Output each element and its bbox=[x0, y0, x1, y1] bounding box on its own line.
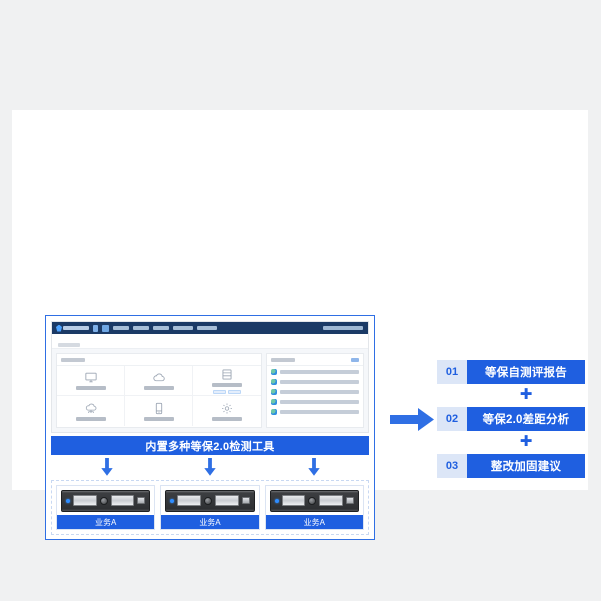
server-rack-icon bbox=[165, 490, 254, 512]
tool-badge-icon bbox=[271, 379, 277, 385]
tool-badge-icon bbox=[271, 389, 277, 395]
output-row[interactable]: 03 整改加固建议 bbox=[437, 454, 585, 478]
nav-menu-item-5[interactable] bbox=[197, 326, 217, 330]
outputs-stack: 01 等保自测评报告 ✚ 02 等保2.0差距分析 ✚ 03 整改加固建议 bbox=[437, 360, 585, 478]
recent-tools-header bbox=[267, 354, 363, 366]
breadcrumb-path bbox=[58, 343, 80, 347]
output-label: 整改加固建议 bbox=[467, 454, 585, 478]
output-row[interactable]: 01 等保自测评报告 bbox=[437, 360, 585, 384]
arrow-down-icon bbox=[306, 458, 322, 477]
down-arrow-row bbox=[51, 458, 369, 478]
list-item-label bbox=[280, 390, 359, 394]
plus-icon: ✚ bbox=[437, 384, 585, 407]
business-group: 业务A 业务A 业务A bbox=[51, 480, 369, 535]
list-item-label bbox=[280, 380, 359, 384]
app-screenshot-mock bbox=[51, 321, 369, 433]
list-item[interactable] bbox=[271, 369, 359, 375]
recent-tools-list bbox=[267, 366, 363, 418]
list-item-label bbox=[280, 410, 359, 414]
plus-icon: ✚ bbox=[437, 431, 585, 454]
tool-tag bbox=[228, 390, 241, 394]
nav-account-label[interactable] bbox=[323, 326, 363, 330]
tool-tile-tags bbox=[213, 390, 241, 394]
output-number: 01 bbox=[437, 360, 467, 384]
tool-tile-label bbox=[212, 383, 242, 387]
business-device bbox=[161, 486, 258, 515]
business-device bbox=[57, 486, 154, 515]
arrow-down-icon bbox=[99, 458, 115, 477]
database-stack-icon bbox=[220, 368, 234, 381]
server-rack-icon bbox=[270, 490, 359, 512]
tools-card bbox=[56, 353, 262, 428]
tool-tile[interactable] bbox=[193, 396, 261, 426]
output-number: 03 bbox=[437, 454, 467, 478]
cloud-network-icon bbox=[84, 402, 98, 415]
tool-tile[interactable] bbox=[125, 366, 193, 396]
tool-tile-label bbox=[76, 417, 106, 421]
tools-card-title bbox=[61, 358, 85, 362]
recent-tools-title bbox=[271, 358, 295, 362]
white-canvas: 内置多种等保2.0检测工具 bbox=[12, 110, 588, 490]
business-item[interactable]: 业务A bbox=[265, 485, 364, 530]
more-link[interactable] bbox=[351, 358, 359, 362]
banner-tools: 内置多种等保2.0检测工具 bbox=[51, 436, 369, 455]
tool-tile[interactable] bbox=[125, 396, 193, 426]
nav-menu-item-2[interactable] bbox=[133, 326, 149, 330]
tool-badge-icon bbox=[271, 409, 277, 415]
app-navbar bbox=[52, 322, 368, 334]
tool-tile-label bbox=[212, 417, 242, 421]
output-number: 02 bbox=[437, 407, 467, 431]
tool-tile-label bbox=[76, 386, 106, 390]
output-label: 等保2.0差距分析 bbox=[467, 407, 585, 431]
tool-tile-grid bbox=[57, 366, 261, 426]
mobile-device-icon bbox=[152, 402, 166, 415]
server-rack-icon bbox=[61, 490, 150, 512]
tools-card-header bbox=[57, 354, 261, 366]
list-item[interactable] bbox=[271, 389, 359, 395]
breadcrumb bbox=[52, 334, 368, 349]
list-item[interactable] bbox=[271, 409, 359, 415]
tool-tile-label bbox=[144, 386, 174, 390]
page-root: 内置多种等保2.0检测工具 bbox=[0, 0, 601, 601]
output-row[interactable]: 02 等保2.0差距分析 bbox=[437, 407, 585, 431]
tool-tile-label bbox=[144, 417, 174, 421]
nav-bars-icon bbox=[102, 325, 109, 332]
list-item-label bbox=[280, 370, 359, 374]
tool-tile[interactable] bbox=[193, 366, 261, 396]
business-caption: 业务A bbox=[57, 515, 154, 529]
shield-logo-icon bbox=[56, 325, 89, 332]
business-item[interactable]: 业务A bbox=[56, 485, 155, 530]
app-content bbox=[52, 349, 368, 432]
tool-tile[interactable] bbox=[57, 366, 125, 396]
arrow-right-icon bbox=[390, 407, 435, 432]
output-label: 等保自测评报告 bbox=[467, 360, 585, 384]
list-item[interactable] bbox=[271, 379, 359, 385]
nav-menu-item-1[interactable] bbox=[113, 326, 129, 330]
cloud-icon bbox=[152, 371, 166, 384]
nav-chart-icon bbox=[93, 325, 98, 332]
business-item[interactable]: 业务A bbox=[160, 485, 259, 530]
tool-tag bbox=[213, 390, 226, 394]
gear-icon bbox=[220, 402, 234, 415]
monitor-icon bbox=[84, 371, 98, 384]
arrow-down-icon bbox=[202, 458, 218, 477]
list-item[interactable] bbox=[271, 399, 359, 405]
tool-tile[interactable] bbox=[57, 396, 125, 426]
tool-badge-icon bbox=[271, 369, 277, 375]
nav-brand-label bbox=[63, 326, 89, 330]
tool-badge-icon bbox=[271, 399, 277, 405]
nav-menu-item-3[interactable] bbox=[153, 326, 169, 330]
business-caption: 业务A bbox=[161, 515, 258, 529]
business-caption: 业务A bbox=[266, 515, 363, 529]
list-item-label bbox=[280, 400, 359, 404]
recent-tools-card bbox=[266, 353, 364, 428]
left-diagram-container: 内置多种等保2.0检测工具 bbox=[45, 315, 375, 540]
nav-menu-item-4[interactable] bbox=[173, 326, 193, 330]
business-device bbox=[266, 486, 363, 515]
